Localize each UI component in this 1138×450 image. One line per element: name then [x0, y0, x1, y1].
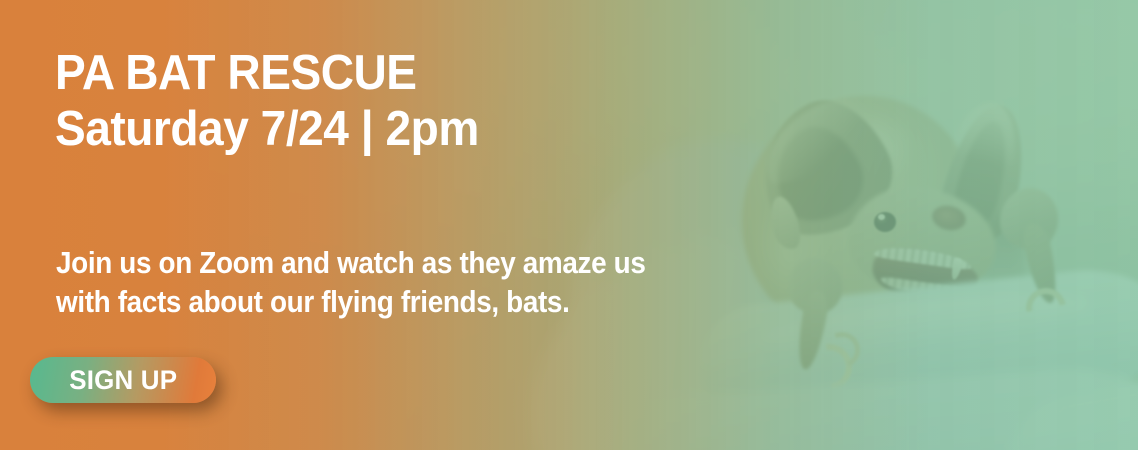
body-copy-line-2: with facts about our flying friends, bat… — [56, 282, 646, 321]
headline: PA BAT RESCUE Saturday 7/24 | 2pm — [55, 45, 479, 157]
body-copy-line-1: Join us on Zoom and watch as they amaze … — [56, 243, 646, 282]
sign-up-button[interactable]: SIGN UP — [30, 357, 216, 403]
event-promo-banner: PA BAT RESCUE Saturday 7/24 | 2pm Join u… — [0, 0, 1138, 450]
headline-line-2: Saturday 7/24 | 2pm — [55, 101, 479, 157]
sign-up-button-label: SIGN UP — [69, 367, 177, 394]
headline-line-1: PA BAT RESCUE — [55, 45, 479, 101]
banner-content: PA BAT RESCUE Saturday 7/24 | 2pm Join u… — [0, 0, 1138, 450]
body-copy: Join us on Zoom and watch as they amaze … — [56, 243, 646, 321]
